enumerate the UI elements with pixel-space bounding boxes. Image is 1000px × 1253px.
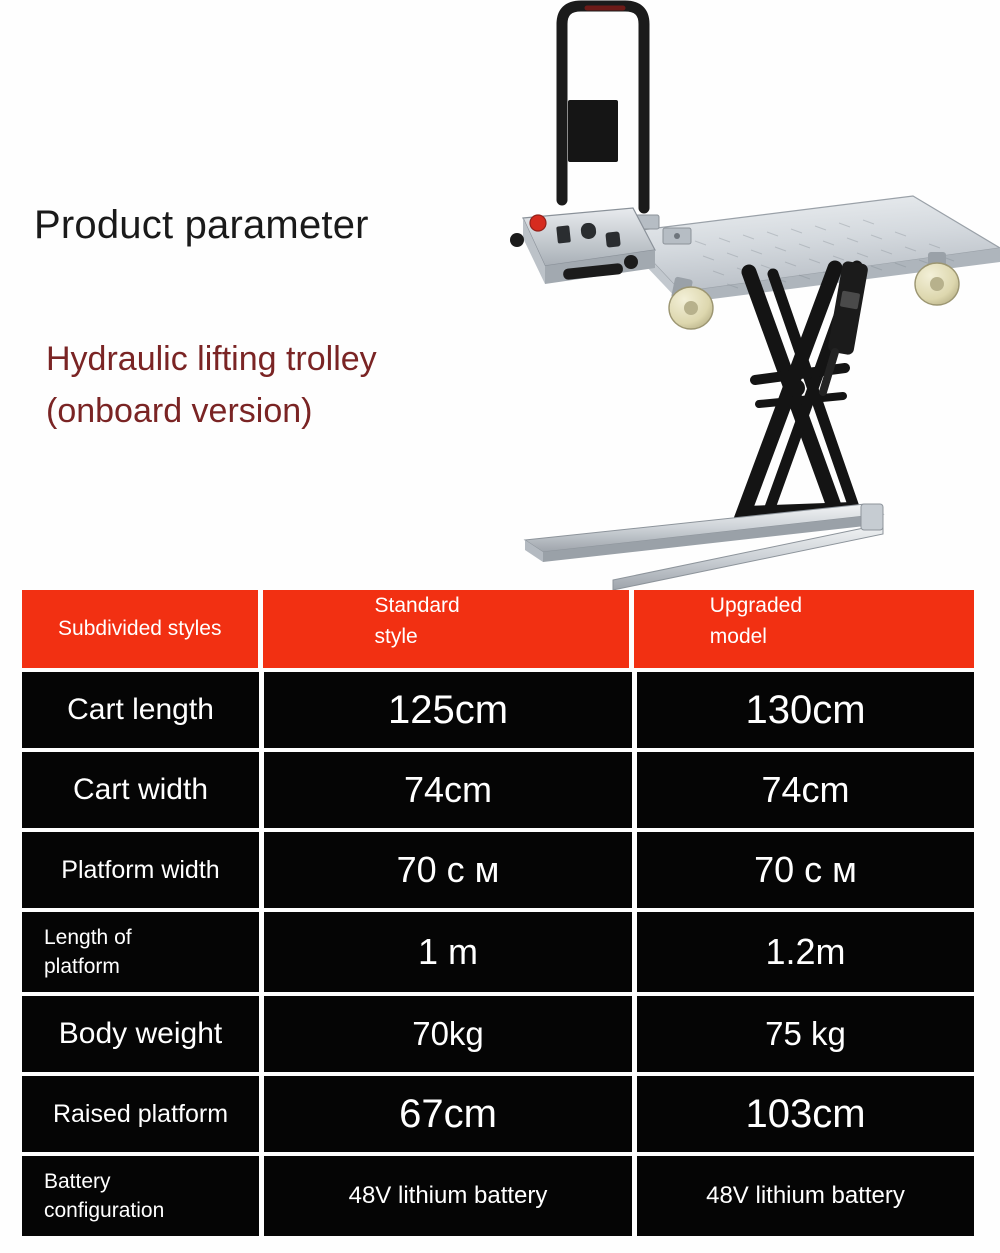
specifications-table: Subdivided styles Standard style Upgrade… <box>22 590 974 1236</box>
table-row: Cart length 125cm 130cm <box>22 672 974 748</box>
row-upgraded-cart-width: 74cm <box>637 752 974 828</box>
row-label-line-1: Battery <box>44 1167 111 1196</box>
push-handle-icon <box>562 6 644 208</box>
row-upgraded-cart-length: 130cm <box>637 672 974 748</box>
header-standard-line-2: style <box>375 621 418 652</box>
control-panel <box>510 208 655 284</box>
header-cell-standard-style: Standard style <box>263 590 629 668</box>
header-upgraded-line-2: model <box>710 621 767 652</box>
row-upgraded-raised-platform: 103cm <box>637 1076 974 1152</box>
row-standard-body-weight: 70kg <box>264 996 632 1072</box>
row-upgraded-length-of-platform: 1.2m <box>637 912 974 992</box>
header-cell-subdivided-styles: Subdivided styles <box>22 590 258 668</box>
table-row: Length of platform 1 m 1.2m <box>22 912 974 992</box>
row-label-line-2: platform <box>44 952 120 981</box>
subtitle-line-1: Hydraulic lifting trolley <box>46 333 516 385</box>
row-label-line-1: Length of <box>44 923 132 952</box>
row-upgraded-platform-width: 70 с м <box>637 832 974 908</box>
header-cell-upgraded-model: Upgraded model <box>634 590 974 668</box>
row-label-battery-configuration: Battery configuration <box>22 1156 259 1236</box>
product-photo <box>505 0 1000 590</box>
emergency-button-icon <box>530 215 546 231</box>
row-label-raised-platform: Raised platform <box>22 1076 259 1152</box>
row-label-line-2: configuration <box>44 1196 164 1225</box>
subtitle-line-2: (onboard version) <box>46 385 516 437</box>
page-title: Product parameter <box>34 203 369 248</box>
row-label-body-weight: Body weight <box>22 996 259 1072</box>
row-standard-length-of-platform: 1 m <box>264 912 632 992</box>
row-upgraded-body-weight: 75 kg <box>637 996 974 1072</box>
row-standard-cart-length: 125cm <box>264 672 632 748</box>
table-row: Platform width 70 с м 70 с м <box>22 832 974 908</box>
header-standard-line-1: Standard <box>375 590 460 621</box>
row-standard-cart-width: 74cm <box>264 752 632 828</box>
header-upgraded-line-1: Upgraded <box>710 590 802 621</box>
row-label-cart-length: Cart length <box>22 672 259 748</box>
base-rails <box>525 504 883 590</box>
row-label-platform-width: Platform width <box>22 832 259 908</box>
row-standard-raised-platform: 67cm <box>264 1076 632 1152</box>
table-row: Battery configuration 48V lithium batter… <box>22 1156 974 1236</box>
row-upgraded-battery-configuration: 48V lithium battery <box>637 1156 974 1236</box>
table-header-row: Subdivided styles Standard style Upgrade… <box>22 590 974 668</box>
row-standard-platform-width: 70 с м <box>264 832 632 908</box>
row-label-cart-width: Cart width <box>22 752 259 828</box>
table-row: Cart width 74cm 74cm <box>22 752 974 828</box>
table-row: Body weight 70kg 75 kg <box>22 996 974 1072</box>
product-subtitle: Hydraulic lifting trolley (onboard versi… <box>46 333 516 437</box>
row-standard-battery-configuration: 48V lithium battery <box>264 1156 632 1236</box>
table-row: Raised platform 67cm 103cm <box>22 1076 974 1152</box>
row-label-length-of-platform: Length of platform <box>22 912 259 992</box>
